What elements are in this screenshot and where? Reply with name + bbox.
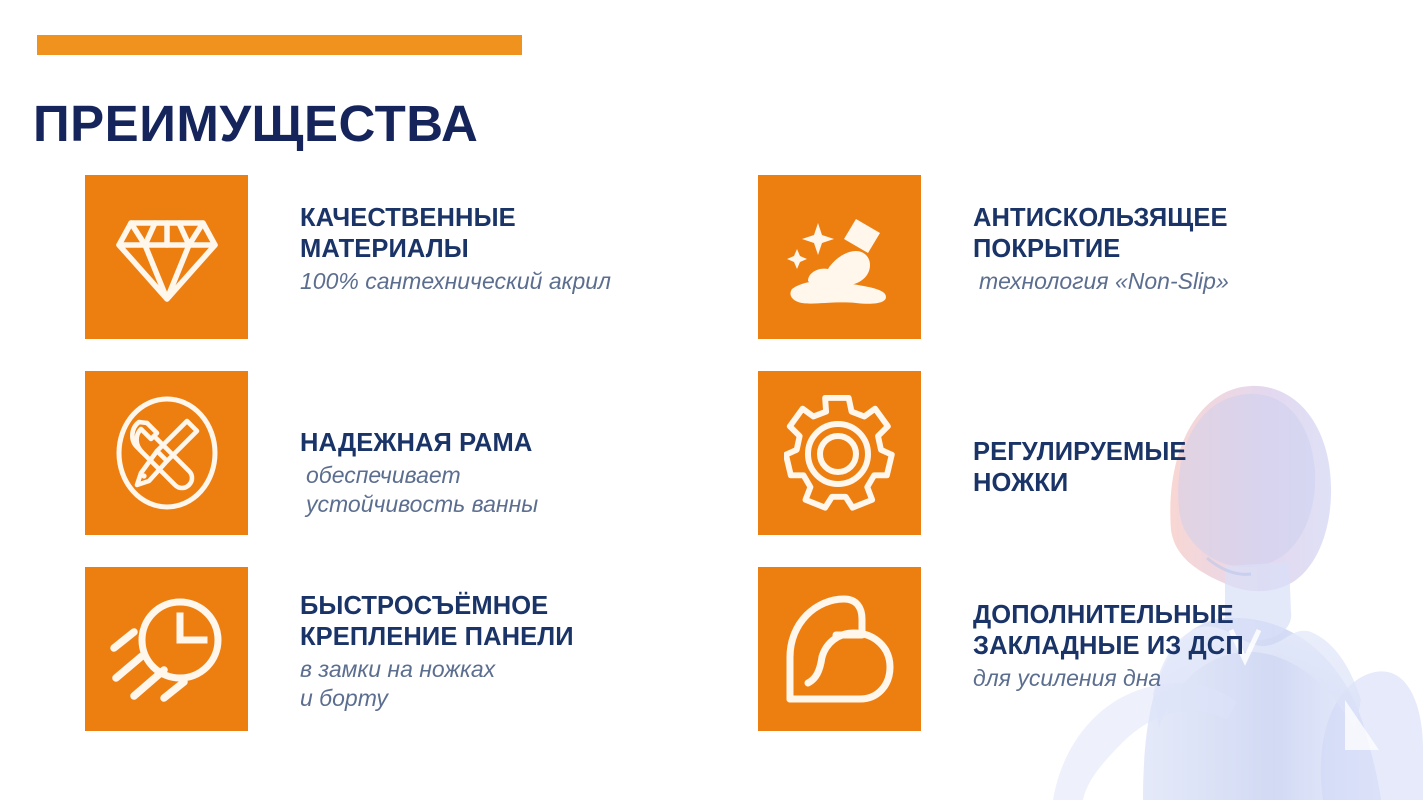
feature-title: АНТИСКОЛЬЗЯЩЕЕ ПОКРЫТИЕ	[973, 203, 1229, 265]
icon-tile-tools	[85, 371, 248, 535]
feature-subtitle: технология «Non-Slip»	[973, 267, 1229, 296]
feature-text-quick-release-panel: БЫСТРОСЪЁМНОЕ КРЕПЛЕНИЕ ПАНЕЛИ в замки н…	[248, 567, 574, 713]
feature-text-adjustable-feet: РЕГУЛИРУЕМЫЕ НОЖКИ	[921, 371, 1187, 501]
feature-quick-release-panel: БЫСТРОСЪЁМНОЕ КРЕПЛЕНИЕ ПАНЕЛИ в замки н…	[85, 567, 574, 731]
tools-circle-icon	[113, 393, 221, 513]
flexed-arm-icon	[782, 591, 898, 707]
gear-icon	[784, 392, 896, 514]
feature-title: КАЧЕСТВЕННЫЕ МАТЕРИАЛЫ	[300, 203, 611, 265]
feature-text-dsp-inserts: ДОПОЛНИТЕЛЬНЫЕ ЗАКЛАДНЫЕ ИЗ ДСП для усил…	[921, 567, 1244, 693]
feature-subtitle: 100% сантехнический акрил	[300, 267, 611, 296]
diamond-icon	[115, 210, 219, 304]
icon-tile-fast-clock	[85, 567, 248, 731]
icon-tile-cleaning-hand	[758, 175, 921, 339]
feature-subtitle: для усиления дна	[973, 664, 1244, 693]
fast-clock-icon	[108, 594, 226, 704]
icon-tile-gear	[758, 371, 921, 535]
features-grid: КАЧЕСТВЕННЫЕ МАТЕРИАЛЫ 100% сантехническ…	[0, 0, 1423, 800]
feature-dsp-inserts: ДОПОЛНИТЕЛЬНЫЕ ЗАКЛАДНЫЕ ИЗ ДСП для усил…	[758, 567, 1244, 731]
feature-title: НАДЕЖНАЯ РАМА	[300, 428, 538, 459]
cleaning-hand-icon	[784, 209, 896, 305]
feature-text-reliable-frame: НАДЕЖНАЯ РАМА обеспечивает устойчивость …	[248, 371, 538, 519]
feature-adjustable-feet: РЕГУЛИРУЕМЫЕ НОЖКИ	[758, 371, 1187, 535]
feature-subtitle: в замки на ножках и борту	[300, 655, 574, 713]
feature-title: РЕГУЛИРУЕМЫЕ НОЖКИ	[973, 437, 1187, 499]
feature-title: ДОПОЛНИТЕЛЬНЫЕ ЗАКЛАДНЫЕ ИЗ ДСП	[973, 600, 1244, 662]
icon-tile-flexed-arm	[758, 567, 921, 731]
feature-text-anti-slip-coating: АНТИСКОЛЬЗЯЩЕЕ ПОКРЫТИЕ технология «Non-…	[921, 175, 1229, 296]
feature-title: БЫСТРОСЪЁМНОЕ КРЕПЛЕНИЕ ПАНЕЛИ	[300, 591, 574, 653]
icon-tile-diamond	[85, 175, 248, 339]
feature-quality-materials: КАЧЕСТВЕННЫЕ МАТЕРИАЛЫ 100% сантехническ…	[85, 175, 611, 339]
feature-text-quality-materials: КАЧЕСТВЕННЫЕ МАТЕРИАЛЫ 100% сантехническ…	[248, 175, 611, 296]
feature-subtitle: обеспечивает устойчивость ванны	[300, 461, 538, 519]
feature-reliable-frame: НАДЕЖНАЯ РАМА обеспечивает устойчивость …	[85, 371, 538, 535]
feature-anti-slip-coating: АНТИСКОЛЬЗЯЩЕЕ ПОКРЫТИЕ технология «Non-…	[758, 175, 1229, 339]
